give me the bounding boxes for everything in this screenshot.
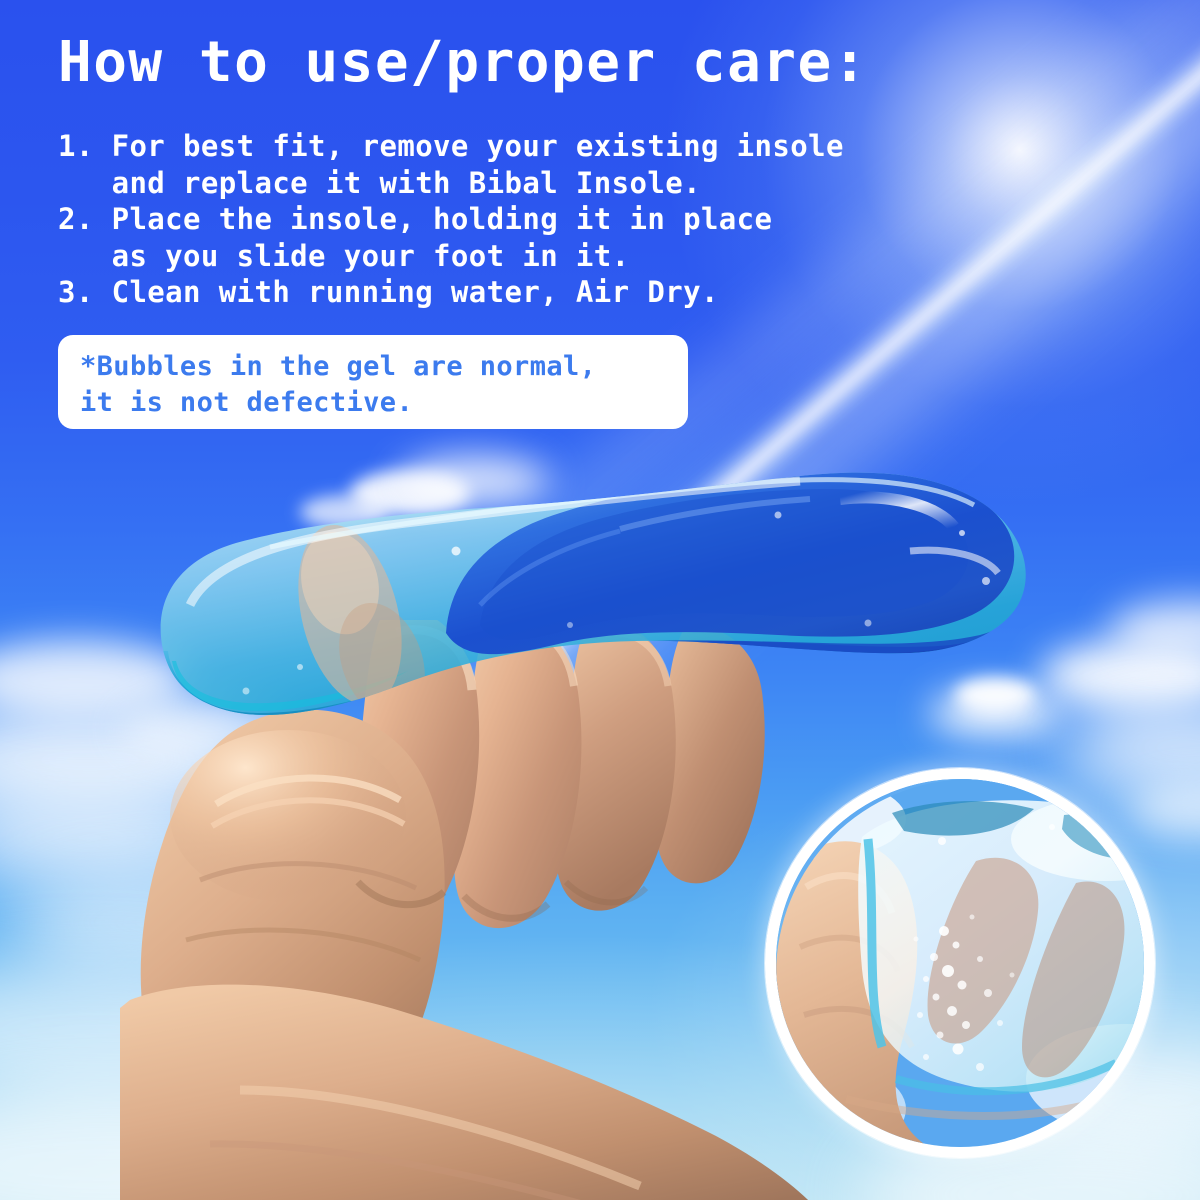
bubbles-note-callout: *Bubbles in the gel are normal, it is no… <box>58 335 688 429</box>
gel-bubble <box>452 547 461 556</box>
page-title: How to use/proper care: <box>58 28 868 98</box>
list-item: 1. For best fit, remove your existing in… <box>58 128 844 165</box>
note-line: it is not defective. <box>80 385 688 421</box>
product-infographic: How to use/proper care: 1. For best fit,… <box>0 0 1200 1200</box>
gel-bubble <box>982 577 990 585</box>
list-item: 2. Place the insole, holding it in place <box>58 201 844 238</box>
inset-photo <box>776 779 1155 1158</box>
gel-bubble <box>959 530 965 536</box>
instruction-steps-list: 1. For best fit, remove your existing in… <box>58 128 844 311</box>
gel-insole-product <box>150 455 1040 755</box>
gel-bubbles-closeup-inset <box>765 768 1155 1158</box>
gel-bubble <box>775 512 782 519</box>
palm <box>120 985 826 1200</box>
gel-bubble <box>865 620 872 627</box>
gel-bubble <box>243 688 250 695</box>
list-item: and replace it with Bibal Insole. <box>58 165 844 202</box>
gel-bubble <box>297 664 303 670</box>
list-item: as you slide your foot in it. <box>58 238 844 275</box>
list-item: 3. Clean with running water, Air Dry. <box>58 274 844 311</box>
note-line: *Bubbles in the gel are normal, <box>80 349 688 385</box>
gel-bubble <box>567 622 573 628</box>
